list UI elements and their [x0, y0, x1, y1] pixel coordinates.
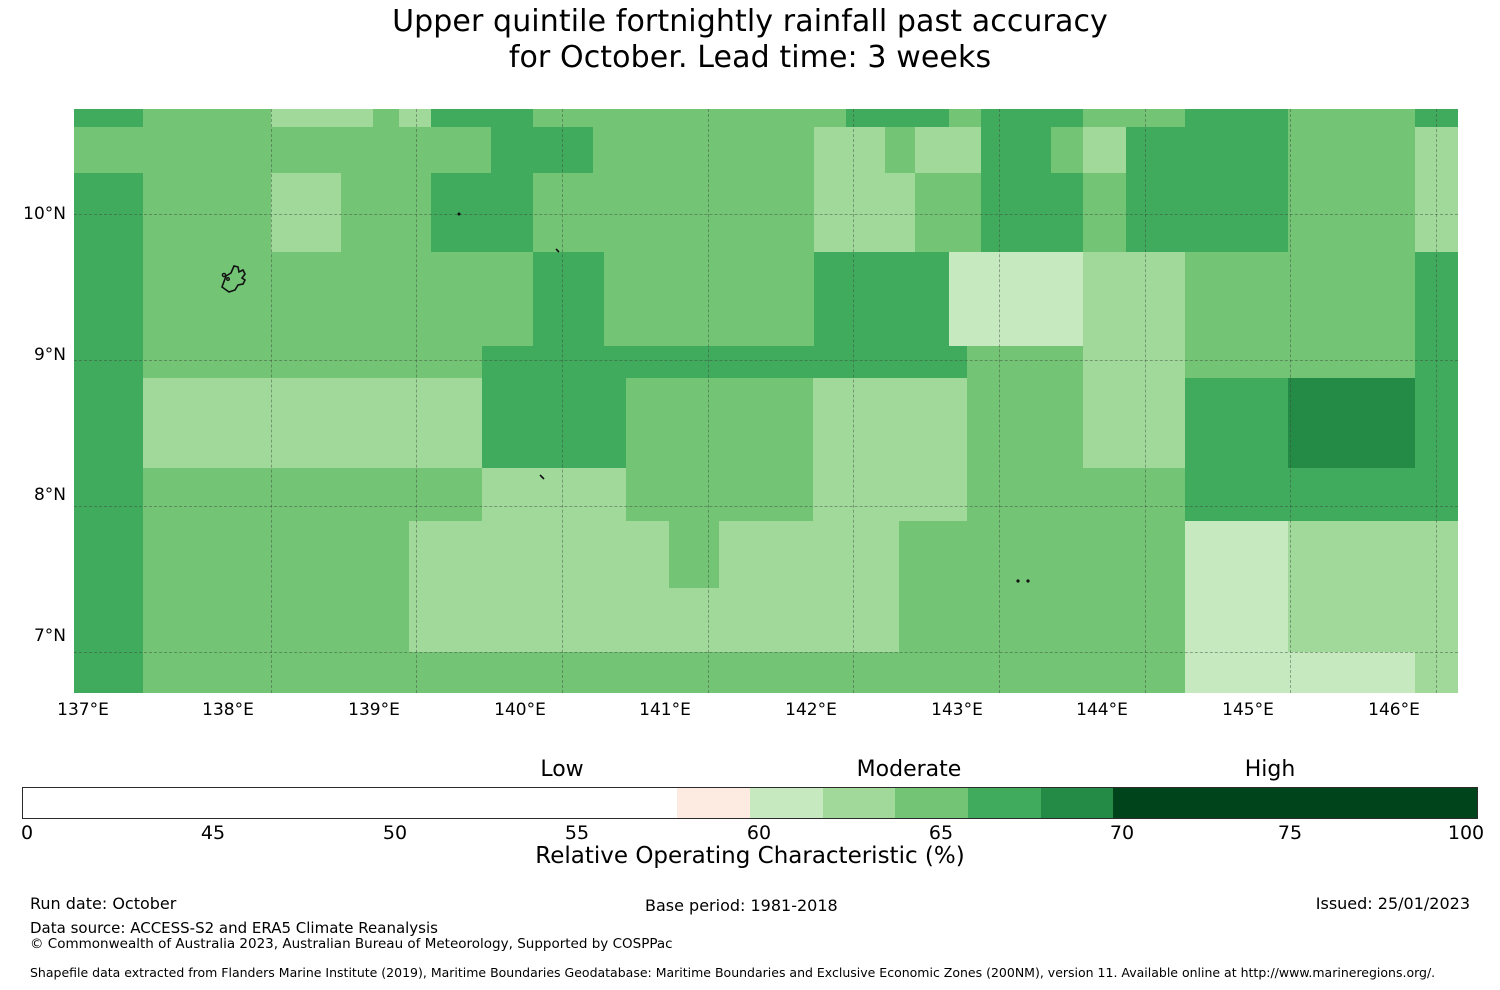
heatmap-cell [1415, 652, 1458, 693]
x-tick-label: 142°E [785, 700, 837, 720]
footer-shapefile-attribution: Shapefile data extracted from Flanders M… [30, 965, 1435, 980]
colorbar-segment [1113, 788, 1477, 818]
heatmap-cell [74, 588, 143, 652]
heatmap-cell [814, 173, 915, 252]
heatmap-cell [1415, 346, 1458, 378]
colorbar-segment [23, 788, 677, 818]
x-tick-label: 145°E [1222, 700, 1274, 720]
colorbar-tick-label: 70 [1110, 822, 1134, 844]
colorbar-tick-label: 50 [383, 822, 407, 844]
heatmap-cell [813, 346, 967, 378]
heatmap-cell [967, 346, 1083, 378]
heatmap-cell [143, 652, 482, 693]
x-tick-label: 143°E [931, 700, 983, 720]
heatmap-cell [1288, 127, 1415, 174]
heatmap-cell [143, 109, 270, 127]
colorbar-axis-label: Relative Operating Characteristic (%) [0, 843, 1500, 869]
colorbar-category-moderate: Moderate [857, 757, 962, 782]
heatmap-cell [533, 252, 604, 345]
heatmap-cell [949, 109, 981, 127]
heatmap-cell [899, 652, 1185, 693]
footer-copyright: © Commonwealth of Australia 2023, Austra… [30, 936, 673, 952]
colorbar-segment [823, 788, 896, 818]
heatmap-cell [1415, 378, 1458, 469]
heatmap-cell [1083, 252, 1185, 345]
heatmap-cell [1185, 346, 1415, 378]
heatmap-cell [1185, 588, 1287, 652]
x-tick-label: 141°E [639, 700, 691, 720]
heatmap-cell [1288, 109, 1415, 127]
x-tick-label: 146°E [1368, 700, 1420, 720]
heatmap-cell [482, 346, 813, 378]
heatmap-clip [74, 109, 1458, 693]
colorbar-tick-label: 60 [747, 822, 771, 844]
heatmap-cell [409, 521, 669, 588]
heatmap-cell [1288, 521, 1415, 588]
colorbar-tick-label: 75 [1278, 822, 1302, 844]
heatmap-cell [949, 252, 1083, 345]
colorbar-segment [968, 788, 1041, 818]
title-line-1: Upper quintile fortnightly rainfall past… [0, 4, 1500, 40]
heatmap-cell [814, 252, 966, 345]
heatmap-cell [74, 652, 143, 693]
heatmap-cell [399, 109, 431, 127]
heatmap-cell [74, 521, 143, 588]
heatmap-cell [626, 378, 813, 469]
heatmap-cell [915, 173, 980, 252]
colorbar-segment [677, 788, 750, 818]
x-tick-label: 137°E [57, 700, 109, 720]
colorbar [22, 787, 1478, 819]
heatmap-cell [813, 468, 967, 521]
heatmap-cell [981, 127, 1052, 174]
colorbar-tick-label: 55 [565, 822, 589, 844]
footer-data-source: Data source: ACCESS-S2 and ERA5 Climate … [30, 919, 438, 937]
heatmap-cell [1185, 109, 1287, 127]
y-tick-label: 7°N [34, 626, 66, 646]
colorbar-segment [895, 788, 968, 818]
heatmap-cell [1083, 378, 1185, 469]
heatmap-cell [1185, 252, 1415, 345]
heatmap-cell [813, 378, 967, 469]
heatmap-cell [1415, 173, 1458, 252]
heatmap-cell [143, 346, 482, 378]
heatmap-cell [74, 109, 143, 127]
heatmap-cell [1288, 378, 1415, 469]
x-tick-label: 144°E [1076, 700, 1128, 720]
heatmap-cell [885, 127, 915, 174]
heatmap-cell [1415, 521, 1458, 588]
heatmap-cell [846, 109, 948, 127]
heatmap-cell [626, 468, 813, 521]
heatmap-cell [143, 521, 409, 588]
heatmap-cell [604, 252, 814, 345]
colorbar-segment [750, 788, 823, 818]
heatmap-cell [143, 468, 482, 521]
heatmap-cell [1415, 588, 1458, 652]
colorbar-tick-label: 45 [201, 822, 225, 844]
heatmap-cell [482, 652, 899, 693]
heatmap-cell [143, 173, 270, 252]
chart-title: Upper quintile fortnightly rainfall past… [0, 4, 1500, 76]
colorbar-segment [1041, 788, 1114, 818]
heatmap-cell [431, 173, 533, 252]
heatmap-cell [74, 252, 143, 345]
heatmap-cell [74, 346, 143, 378]
heatmap-cell [533, 109, 846, 127]
heatmap-cell [593, 127, 814, 174]
heatmap-cell [1083, 468, 1185, 521]
heatmap-cell [1083, 109, 1185, 127]
heatmap-cell [533, 173, 814, 252]
heatmap-cell [981, 173, 1083, 252]
colorbar-category-high: High [1245, 757, 1296, 782]
colorbar-category-low: Low [540, 757, 583, 782]
heatmap-cell [719, 521, 899, 588]
heatmap-cell [1185, 652, 1415, 693]
heatmap-cell [271, 173, 342, 252]
x-tick-label: 139°E [348, 700, 400, 720]
heatmap-map [74, 109, 1458, 693]
heatmap-cell [482, 468, 626, 521]
heatmap-cell [491, 127, 593, 174]
heatmap-cell [1288, 173, 1415, 252]
heatmap-cell [1126, 127, 1288, 174]
footer-run-date: Run date: October [30, 894, 176, 913]
heatmap-cell [74, 173, 143, 252]
colorbar-tick-label: 0 [21, 822, 33, 844]
heatmap-cell [431, 109, 533, 127]
title-line-2: for October. Lead time: 3 weeks [0, 40, 1500, 76]
heatmap-cell [915, 127, 980, 174]
heatmap-cell [373, 109, 399, 127]
heatmap-cell [1051, 127, 1083, 174]
colorbar-gradient [22, 787, 1478, 819]
heatmap-cells [74, 109, 1458, 693]
x-tick-label: 138°E [202, 700, 254, 720]
heatmap-cell [814, 127, 885, 174]
y-tick-label: 8°N [34, 485, 66, 505]
heatmap-cell [981, 109, 1083, 127]
heatmap-cell [967, 468, 1083, 521]
heatmap-cell [1126, 173, 1288, 252]
heatmap-cell [74, 127, 563, 174]
x-tick-label: 140°E [494, 700, 546, 720]
heatmap-cell [899, 588, 1185, 652]
heatmap-cell [1083, 346, 1185, 378]
heatmap-cell [967, 378, 1083, 469]
heatmap-cell [74, 468, 143, 521]
heatmap-cell [1415, 109, 1458, 127]
y-tick-label: 9°N [34, 345, 66, 365]
heatmap-cell [1185, 521, 1287, 588]
heatmap-cell [143, 378, 482, 469]
heatmap-cell [1185, 378, 1287, 469]
heatmap-cell [341, 173, 431, 252]
heatmap-cell [899, 521, 1185, 588]
heatmap-cell [271, 109, 373, 127]
heatmap-cell [143, 588, 409, 652]
heatmap-cell [1415, 252, 1458, 345]
heatmap-cell [1185, 468, 1415, 521]
heatmap-cell [143, 252, 533, 345]
heatmap-cell [1288, 588, 1415, 652]
heatmap-cell [409, 588, 899, 652]
heatmap-cell [669, 521, 719, 588]
heatmap-cell [1415, 468, 1458, 521]
colorbar-tick-label: 100 [1448, 822, 1484, 844]
heatmap-cell [1083, 173, 1126, 252]
y-tick-label: 10°N [23, 204, 66, 224]
heatmap-cell [482, 378, 626, 469]
heatmap-cell [1415, 127, 1458, 174]
footer-issued-date: Issued: 25/01/2023 [1316, 894, 1470, 913]
heatmap-cell [74, 378, 143, 469]
footer-base-period: Base period: 1981-2018 [645, 896, 838, 915]
colorbar-tick-label: 65 [929, 822, 953, 844]
